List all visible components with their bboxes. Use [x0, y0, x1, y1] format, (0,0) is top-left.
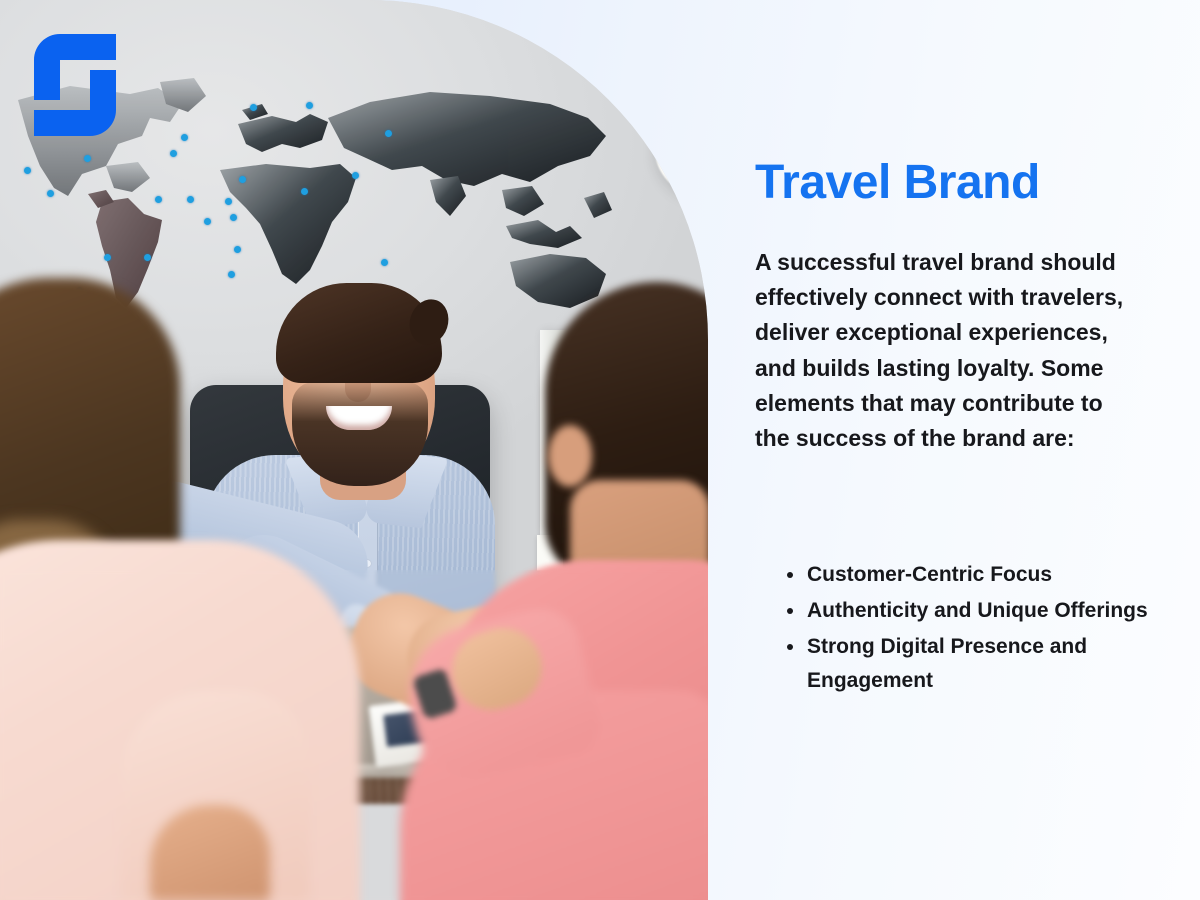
list-item: Authenticity and Unique Offerings: [805, 594, 1177, 628]
clock-number: 8: [669, 169, 682, 177]
map-marker-dot: [104, 254, 111, 261]
map-marker-dot: [144, 254, 151, 261]
list-item: Strong Digital Presence and Engagement: [805, 630, 1177, 698]
map-marker-dot: [381, 259, 388, 266]
map-marker-dot: [225, 198, 232, 205]
body-paragraph: A successful travel brand should effecti…: [755, 245, 1143, 456]
clock-number: 10: [676, 119, 692, 135]
map-marker-dot: [24, 167, 31, 174]
list-item: Customer-Centric Focus: [805, 558, 1177, 592]
key-elements-list: Customer-Centric Focus Authenticity and …: [779, 558, 1177, 700]
clock-number: 9: [665, 147, 678, 155]
map-marker-dot: [250, 104, 257, 111]
map-marker-dot: [170, 150, 177, 157]
map-marker-dot: [306, 102, 313, 109]
map-marker-dot: [385, 130, 392, 137]
map-marker-dot: [47, 190, 54, 197]
map-marker-dot: [301, 188, 308, 195]
map-marker-dot: [352, 172, 359, 179]
map-marker-dot: [84, 155, 91, 162]
map-marker-dot: [155, 196, 162, 203]
map-marker-dot: [187, 196, 194, 203]
map-marker-dot: [239, 176, 246, 183]
clock-number: 7: [687, 177, 700, 189]
foreground-man-ear: [548, 425, 592, 487]
clock-face: 10 9 8 7: [663, 111, 708, 187]
brand-logo-s-mark[interactable]: [34, 34, 116, 136]
clock-hour-hand: [697, 137, 700, 153]
map-marker-dot: [204, 218, 211, 225]
map-marker-dot: [234, 246, 241, 253]
slide-canvas: 10 9 8 7: [0, 0, 1200, 900]
text-column: Travel Brand A successful travel brand s…: [755, 0, 1155, 900]
map-marker-dot: [181, 134, 188, 141]
map-marker-dot: [230, 214, 237, 221]
map-marker-dot: [228, 271, 235, 278]
page-title: Travel Brand: [755, 158, 1040, 209]
